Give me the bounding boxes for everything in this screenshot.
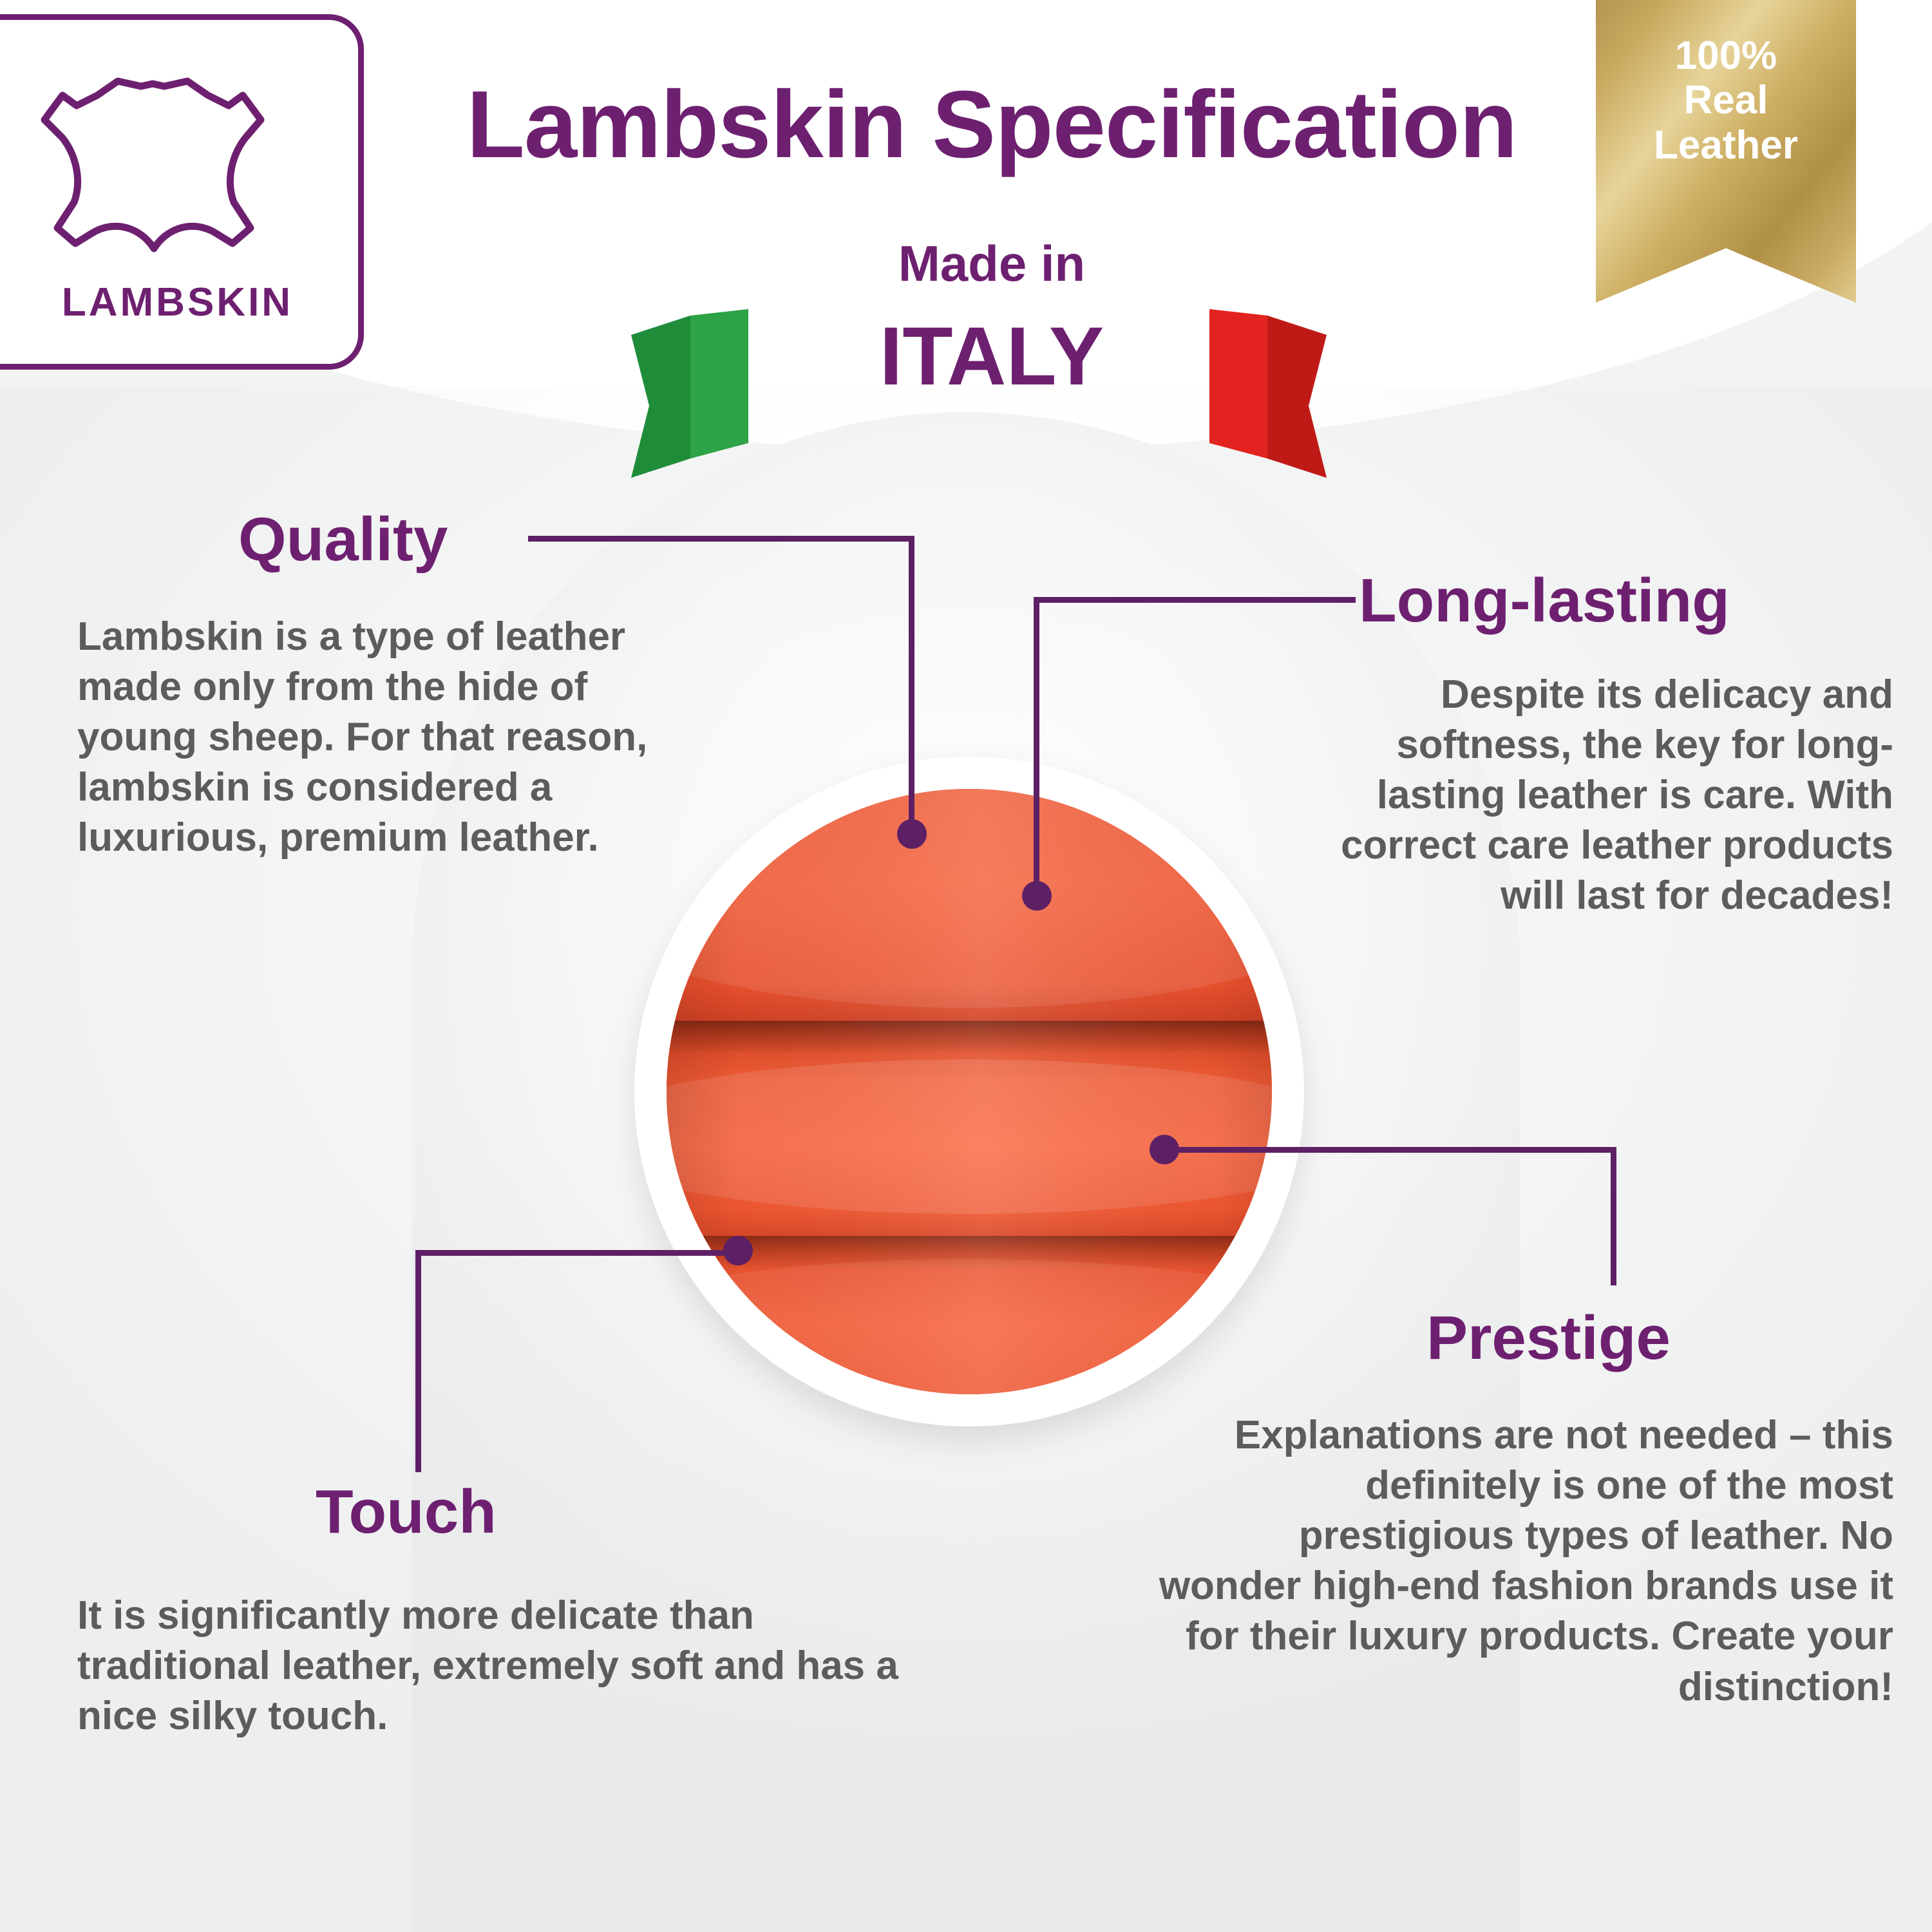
section-body-long-lasting: Despite its delicacy and softness, the k… — [1294, 670, 1893, 922]
section-body-prestige: Explanations are not needed – this defin… — [1153, 1410, 1893, 1712]
section-title-long-lasting: Long-lasting — [1359, 570, 1730, 632]
section-title-touch: Touch — [316, 1481, 497, 1543]
badge-line-2: Real — [1596, 78, 1856, 122]
connector-touch-dot — [723, 1236, 753, 1265]
connector-quality-horizontal — [528, 536, 914, 542]
brand-logo-label: LAMBSKIN — [0, 279, 358, 325]
connector-long-lasting-dot — [1022, 881, 1052, 911]
italy-flag-ribbon-left-icon — [631, 309, 799, 483]
connector-prestige-vertical — [1611, 1147, 1616, 1285]
made-in-label: Made in — [412, 238, 1571, 289]
connector-quality-vertical — [909, 536, 914, 835]
connector-long-lasting-horizontal — [1034, 597, 1356, 603]
leather-texture — [667, 789, 1272, 1394]
badge-line-3: Leather — [1596, 123, 1856, 167]
country-label: ITALY — [412, 316, 1571, 398]
leather-swatch-image — [667, 789, 1272, 1394]
italy-flag-ribbon-right-icon — [1159, 309, 1327, 483]
connector-prestige-horizontal — [1166, 1147, 1616, 1153]
connector-touch-horizontal — [415, 1250, 741, 1256]
badge-text: 100% Real Leather — [1596, 33, 1856, 167]
section-title-quality: Quality — [238, 509, 448, 571]
connector-touch-vertical — [415, 1250, 421, 1472]
infographic-canvas: LAMBSKIN Lambskin Specification Made in … — [0, 0, 1932, 1932]
page-title: Lambskin Specification — [412, 77, 1571, 173]
badge-line-1: 100% — [1596, 33, 1856, 78]
connector-prestige-dot — [1150, 1135, 1179, 1164]
section-body-quality: Lambskin is a type of leather made only … — [77, 612, 670, 864]
connector-quality-dot — [897, 819, 927, 849]
brand-logo-box: LAMBSKIN — [0, 14, 364, 370]
section-body-touch: It is significantly more delicate than t… — [77, 1591, 934, 1741]
leather-hide-icon — [38, 55, 270, 268]
connector-long-lasting-vertical — [1034, 597, 1039, 895]
section-title-prestige: Prestige — [1426, 1307, 1671, 1369]
